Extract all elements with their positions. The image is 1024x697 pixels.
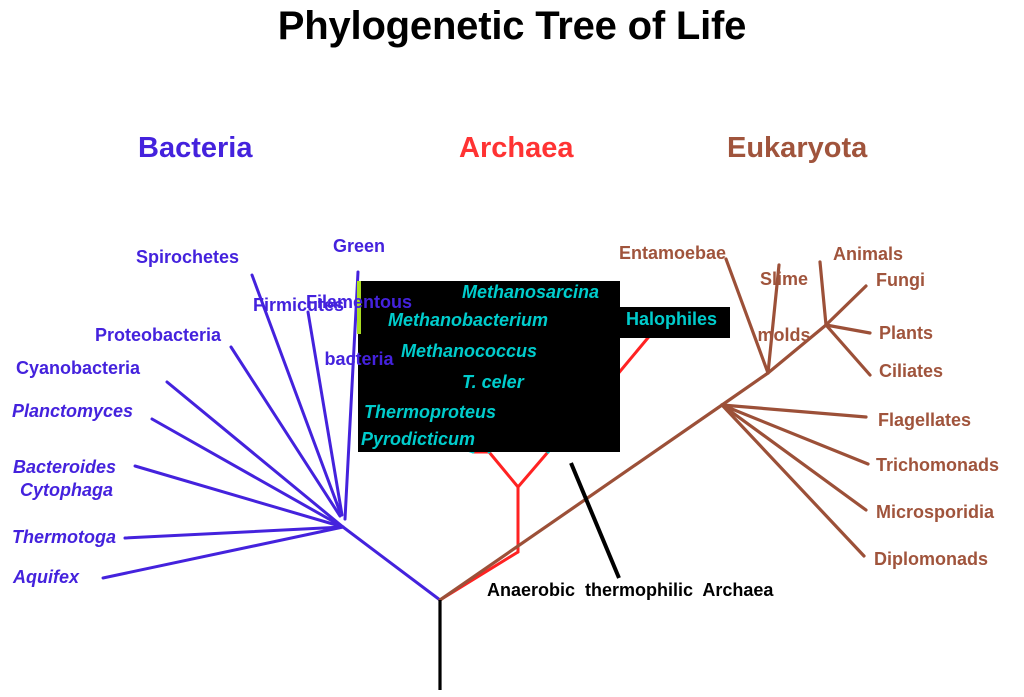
- taxon-label-methanococcus: Methanococcus: [401, 342, 537, 361]
- phylogenetic-tree-figure: Phylogenetic Tree of Life: [0, 0, 1024, 697]
- branch-microsporidia: [722, 405, 866, 510]
- taxon-label-methanosarcina: Methanosarcina: [462, 283, 599, 302]
- taxon-label-trichomonads: Trichomonads: [876, 456, 999, 475]
- taxon-label-proteobacteria: Proteobacteria: [95, 326, 221, 345]
- taxon-label-planctomyces: Planctomyces: [12, 402, 133, 421]
- taxon-label-animals: Animals: [833, 245, 903, 264]
- taxon-label-pyrodicticum: Pyrodicticum: [361, 430, 475, 449]
- taxon-label-firmicutes: Firmicutes: [253, 296, 344, 315]
- taxon-label-halophiles: Halophiles: [626, 310, 717, 329]
- branch-fungi: [826, 286, 866, 325]
- taxon-label-fungi: Fungi: [876, 271, 925, 290]
- annotation-anaerobic-thermophilic-archaea: Anaerobic thermophilic Archaea: [487, 581, 773, 600]
- taxon-label-ciliates: Ciliates: [879, 362, 943, 381]
- branch-crenarchaeota-stem: [489, 452, 518, 487]
- taxon-label-cyanobacteria: Cyanobacteria: [16, 359, 140, 378]
- taxon-label-thermotoga: Thermotoga: [12, 528, 116, 547]
- slime-molds-line-1: Slime: [750, 270, 818, 289]
- branch-animals: [820, 262, 826, 325]
- domain-heading-bacteria: Bacteria: [138, 133, 252, 163]
- taxon-label-spirochetes: Spirochetes: [136, 248, 239, 267]
- domain-heading-eukaryota: Eukaryota: [727, 133, 867, 163]
- slime-molds-line-2: molds: [750, 326, 818, 345]
- branch-planctomyces: [152, 419, 343, 527]
- green-filamentous-line-1: Green: [298, 237, 420, 256]
- taxon-label-slime-molds: Slime molds: [750, 232, 818, 383]
- branch-aquifex: [103, 527, 343, 578]
- taxon-label-thermoproteus: Thermoproteus: [364, 403, 496, 422]
- branch-bacteroides-cytophaga: [135, 466, 343, 527]
- branch-halophiles-red: [617, 333, 652, 375]
- taxon-label-bacteroides: Bacteroides: [13, 458, 116, 477]
- taxon-label-diplomonads: Diplomonads: [874, 550, 988, 569]
- taxon-label-entamoebae: Entamoebae: [619, 244, 726, 263]
- taxon-label-microsporidia: Microsporidia: [876, 503, 994, 522]
- taxon-label-plants: Plants: [879, 324, 933, 343]
- branch-diplomonads: [722, 405, 864, 556]
- taxon-label-cytophaga: Cytophaga: [20, 481, 113, 500]
- domain-heading-archaea: Archaea: [459, 133, 573, 163]
- taxon-label-aquifex: Aquifex: [13, 568, 79, 587]
- taxon-label-methanobacterium: Methanobacterium: [388, 311, 548, 330]
- branch-euryarchaeota-stem: [518, 452, 548, 487]
- taxon-label-flagellates: Flagellates: [878, 411, 971, 430]
- branch-bacteria-stem: [343, 527, 440, 600]
- taxon-label-t-celer: T. celer: [462, 373, 524, 392]
